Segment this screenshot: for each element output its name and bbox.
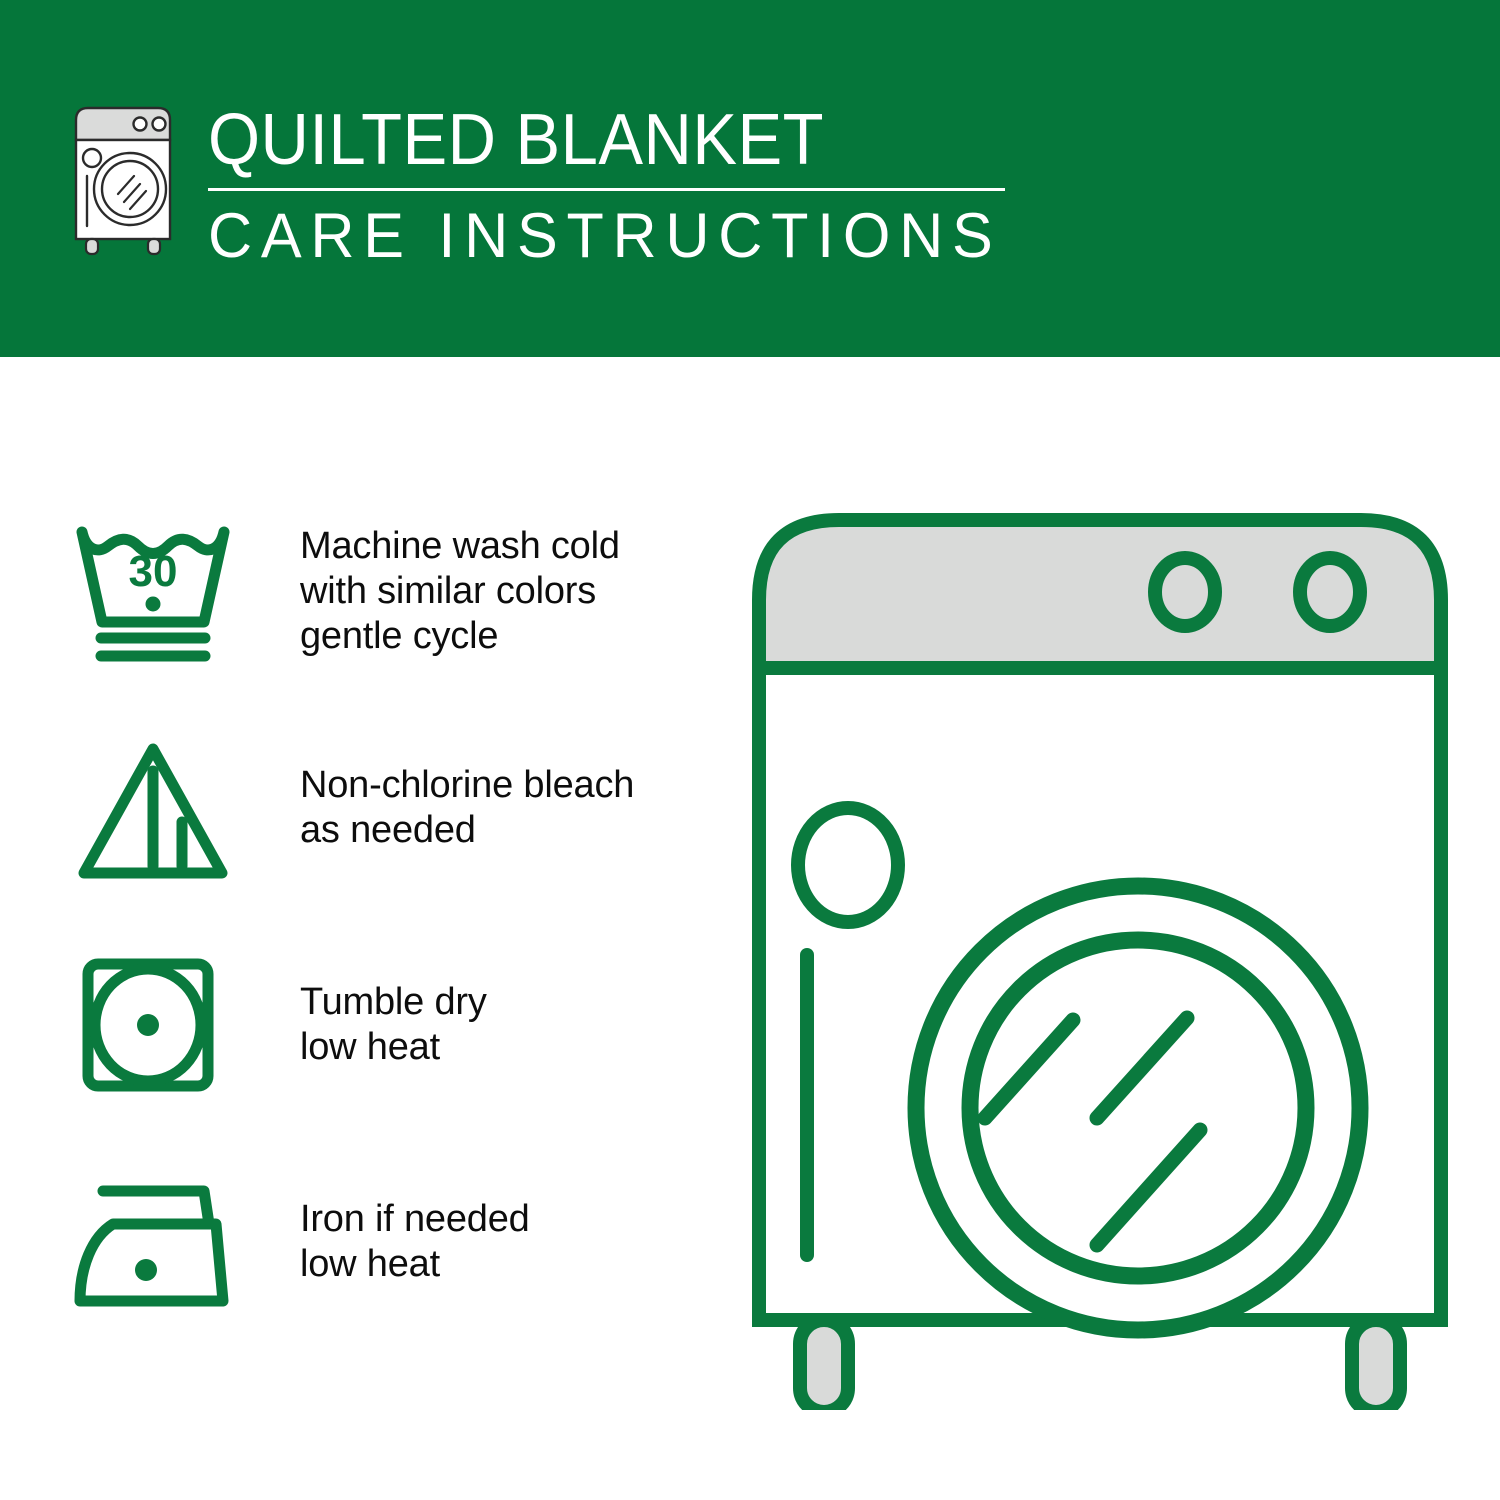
list-item: 30 Machine wash cold with similar colors… <box>70 505 710 677</box>
title-divider <box>208 188 1005 191</box>
care-text-line: low heat <box>300 1242 530 1287</box>
bleach-triangle-icon <box>70 728 240 888</box>
page-title: QUILTED BLANKET <box>208 100 1002 180</box>
care-text-line: with similar colors <box>300 569 620 614</box>
care-text-line: Tumble dry <box>300 980 487 1025</box>
care-text-line: gentle cycle <box>300 614 620 659</box>
care-instruction-text: Machine wash cold with similar colors ge… <box>300 524 620 659</box>
care-text-line: low heat <box>300 1025 487 1070</box>
header-banner: QUILTED BLANKET CARE INSTRUCTIONS <box>0 0 1500 357</box>
header-content: QUILTED BLANKET CARE INSTRUCTIONS <box>62 96 1062 276</box>
front-load-washing-machine-illustration <box>745 500 1455 1410</box>
care-text-line: as needed <box>300 808 634 853</box>
tumble-dry-icon <box>70 945 240 1105</box>
list-item: Tumble dry low heat <box>70 939 710 1111</box>
care-text-line: Machine wash cold <box>300 524 620 569</box>
washing-machine-icon <box>62 96 192 261</box>
page-subtitle: CARE INSTRUCTIONS <box>208 201 1036 271</box>
list-item: Iron if needed low heat <box>70 1156 710 1328</box>
list-item: Non-chlorine bleach as needed <box>70 722 710 894</box>
wash-tub-30-icon: 30 <box>70 511 240 671</box>
care-instruction-text: Non-chlorine bleach as needed <box>300 763 634 853</box>
iron-icon <box>70 1162 240 1322</box>
care-text-line: Iron if needed <box>300 1197 530 1242</box>
care-instruction-text: Tumble dry low heat <box>300 980 487 1070</box>
care-text-line: Non-chlorine bleach <box>300 763 634 808</box>
care-instruction-text: Iron if needed low heat <box>300 1197 530 1287</box>
care-instruction-list: 30 Machine wash cold with similar colors… <box>70 505 710 1328</box>
header-title-block: QUILTED BLANKET CARE INSTRUCTIONS <box>208 96 1062 271</box>
wash-temperature-value: 30 <box>129 547 178 596</box>
